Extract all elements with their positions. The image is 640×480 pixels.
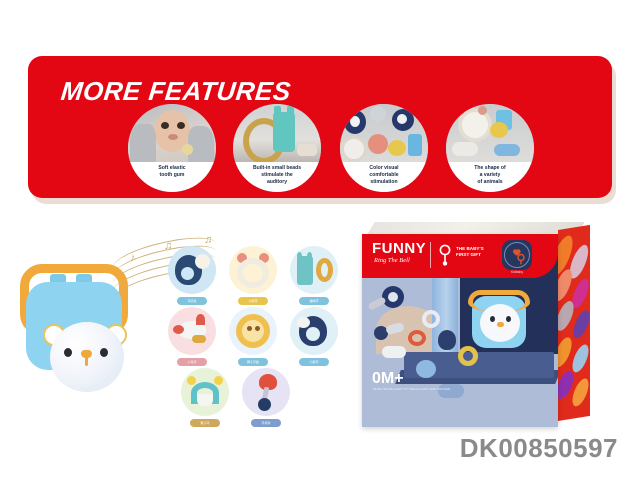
caption-line: of animals: [446, 179, 534, 186]
feature-circle-color-visual-stimulation: Color visual comfortable stimulation: [340, 104, 428, 192]
caption-line: The shape of: [446, 165, 534, 172]
toy-disc: [181, 368, 229, 416]
animal-toys-photo: [446, 104, 534, 164]
sku-code: DK00850597: [460, 433, 618, 464]
caption-line: a variety: [446, 172, 534, 179]
feature-circles-row: Soft elastic tooth gum Built-in small be…: [128, 104, 598, 192]
toy-disc: [290, 246, 338, 294]
product-box: FUNNY Ring The Bell THE BABY'S FIRST GIF…: [358, 222, 608, 430]
caption-line: stimulate the: [233, 172, 321, 179]
toy-icon-item: 手持铃: [242, 368, 290, 430]
caption-line: Built-in small beads: [233, 165, 321, 172]
gift-text: THE BABY'S FIRST GIFT: [456, 246, 484, 258]
age-subtext: MUSIC SOUND LIGHT TOY BELLS HAND GRIP TE…: [373, 387, 451, 391]
toy-label: 蟹子环: [190, 419, 220, 427]
toy-icon-item: 狮子牙胶: [229, 307, 277, 369]
feature-caption: Built-in small beads stimulate the audit…: [233, 162, 321, 192]
page-title: MORE FEATURES: [59, 76, 292, 107]
more-features-banner: MORE FEATURES Soft elastic tooth gum: [28, 56, 612, 198]
feature-circle-soft-elastic-tooth-gum: Soft elastic tooth gum: [128, 104, 216, 192]
caption-line: stimulation: [340, 179, 428, 186]
toy-label: 环绕摇: [177, 297, 207, 305]
toy-disc: [229, 246, 277, 294]
rattle-icon: [438, 244, 452, 266]
colorful-toys-photo: [340, 104, 428, 164]
toy-disc: [168, 307, 216, 355]
page-root: MORE FEATURES Soft elastic tooth gum: [0, 0, 640, 480]
baby-photo: [128, 104, 216, 164]
gift-text-line: FIRST GIFT: [456, 252, 484, 258]
caption-line: comfortable: [340, 172, 428, 179]
box-front-panel: FUNNY Ring The Bell THE BABY'S FIRST GIF…: [362, 234, 558, 427]
toy-icon-item: 小鹅环: [290, 307, 338, 369]
toy-icon-item: 小熊环: [229, 246, 277, 308]
music-note-icon: ♫: [204, 234, 212, 246]
toy-label: 小熊环: [238, 297, 268, 305]
toy-label: 小鸟环: [177, 358, 207, 366]
badge-brand-name: Kidbaby: [494, 270, 540, 274]
toy-label: 手持铃: [251, 419, 281, 427]
caption-line: auditory: [233, 179, 321, 186]
feature-caption: The shape of a variety of animals: [446, 162, 534, 192]
toy-icon-item: 蟹子环: [181, 368, 229, 430]
body: [26, 282, 122, 370]
toy-disc: [290, 307, 338, 355]
divider: [430, 242, 431, 268]
toy-icon-item: 猫咪环: [290, 246, 338, 308]
feature-circle-variety-of-animals: The shape of a variety of animals: [446, 104, 534, 192]
eye: [100, 348, 108, 357]
caption-line: Color visual: [340, 165, 428, 172]
music-note-icon: ♪: [130, 252, 136, 264]
toy-label: 狮子牙胶: [238, 358, 268, 366]
brand-name: FUNNY: [372, 240, 426, 257]
feature-caption: Soft elastic tooth gum: [128, 162, 216, 192]
toy-label: 猫咪环: [299, 297, 329, 305]
caption-line: Soft elastic: [128, 165, 216, 172]
box-side-panel: [558, 225, 590, 421]
toy-icon-item: 环绕摇: [168, 246, 216, 308]
toy-icon-item: 小鸟环: [168, 307, 216, 369]
nose-icon: [81, 350, 92, 358]
caption-line: tooth gum: [128, 172, 216, 179]
feature-circle-built-in-small-beads: Built-in small beads stimulate the audit…: [233, 104, 321, 192]
bear-face: [50, 322, 124, 392]
brand-tagline: Ring The Bell: [374, 257, 410, 264]
heart-rattle-badge-icon: [502, 240, 532, 270]
beads-rattle-photo: [233, 104, 321, 164]
toy-icon-grid: 环绕摇 小熊环 猫咪环: [168, 246, 338, 416]
feature-caption: Color visual comfortable stimulation: [340, 162, 428, 192]
eye: [64, 348, 72, 357]
toy-disc: [168, 246, 216, 294]
toy-label: 小鹅环: [299, 358, 329, 366]
toy-disc: [242, 368, 290, 416]
age-label: 0M+: [372, 370, 404, 388]
toy-disc: [229, 307, 277, 355]
